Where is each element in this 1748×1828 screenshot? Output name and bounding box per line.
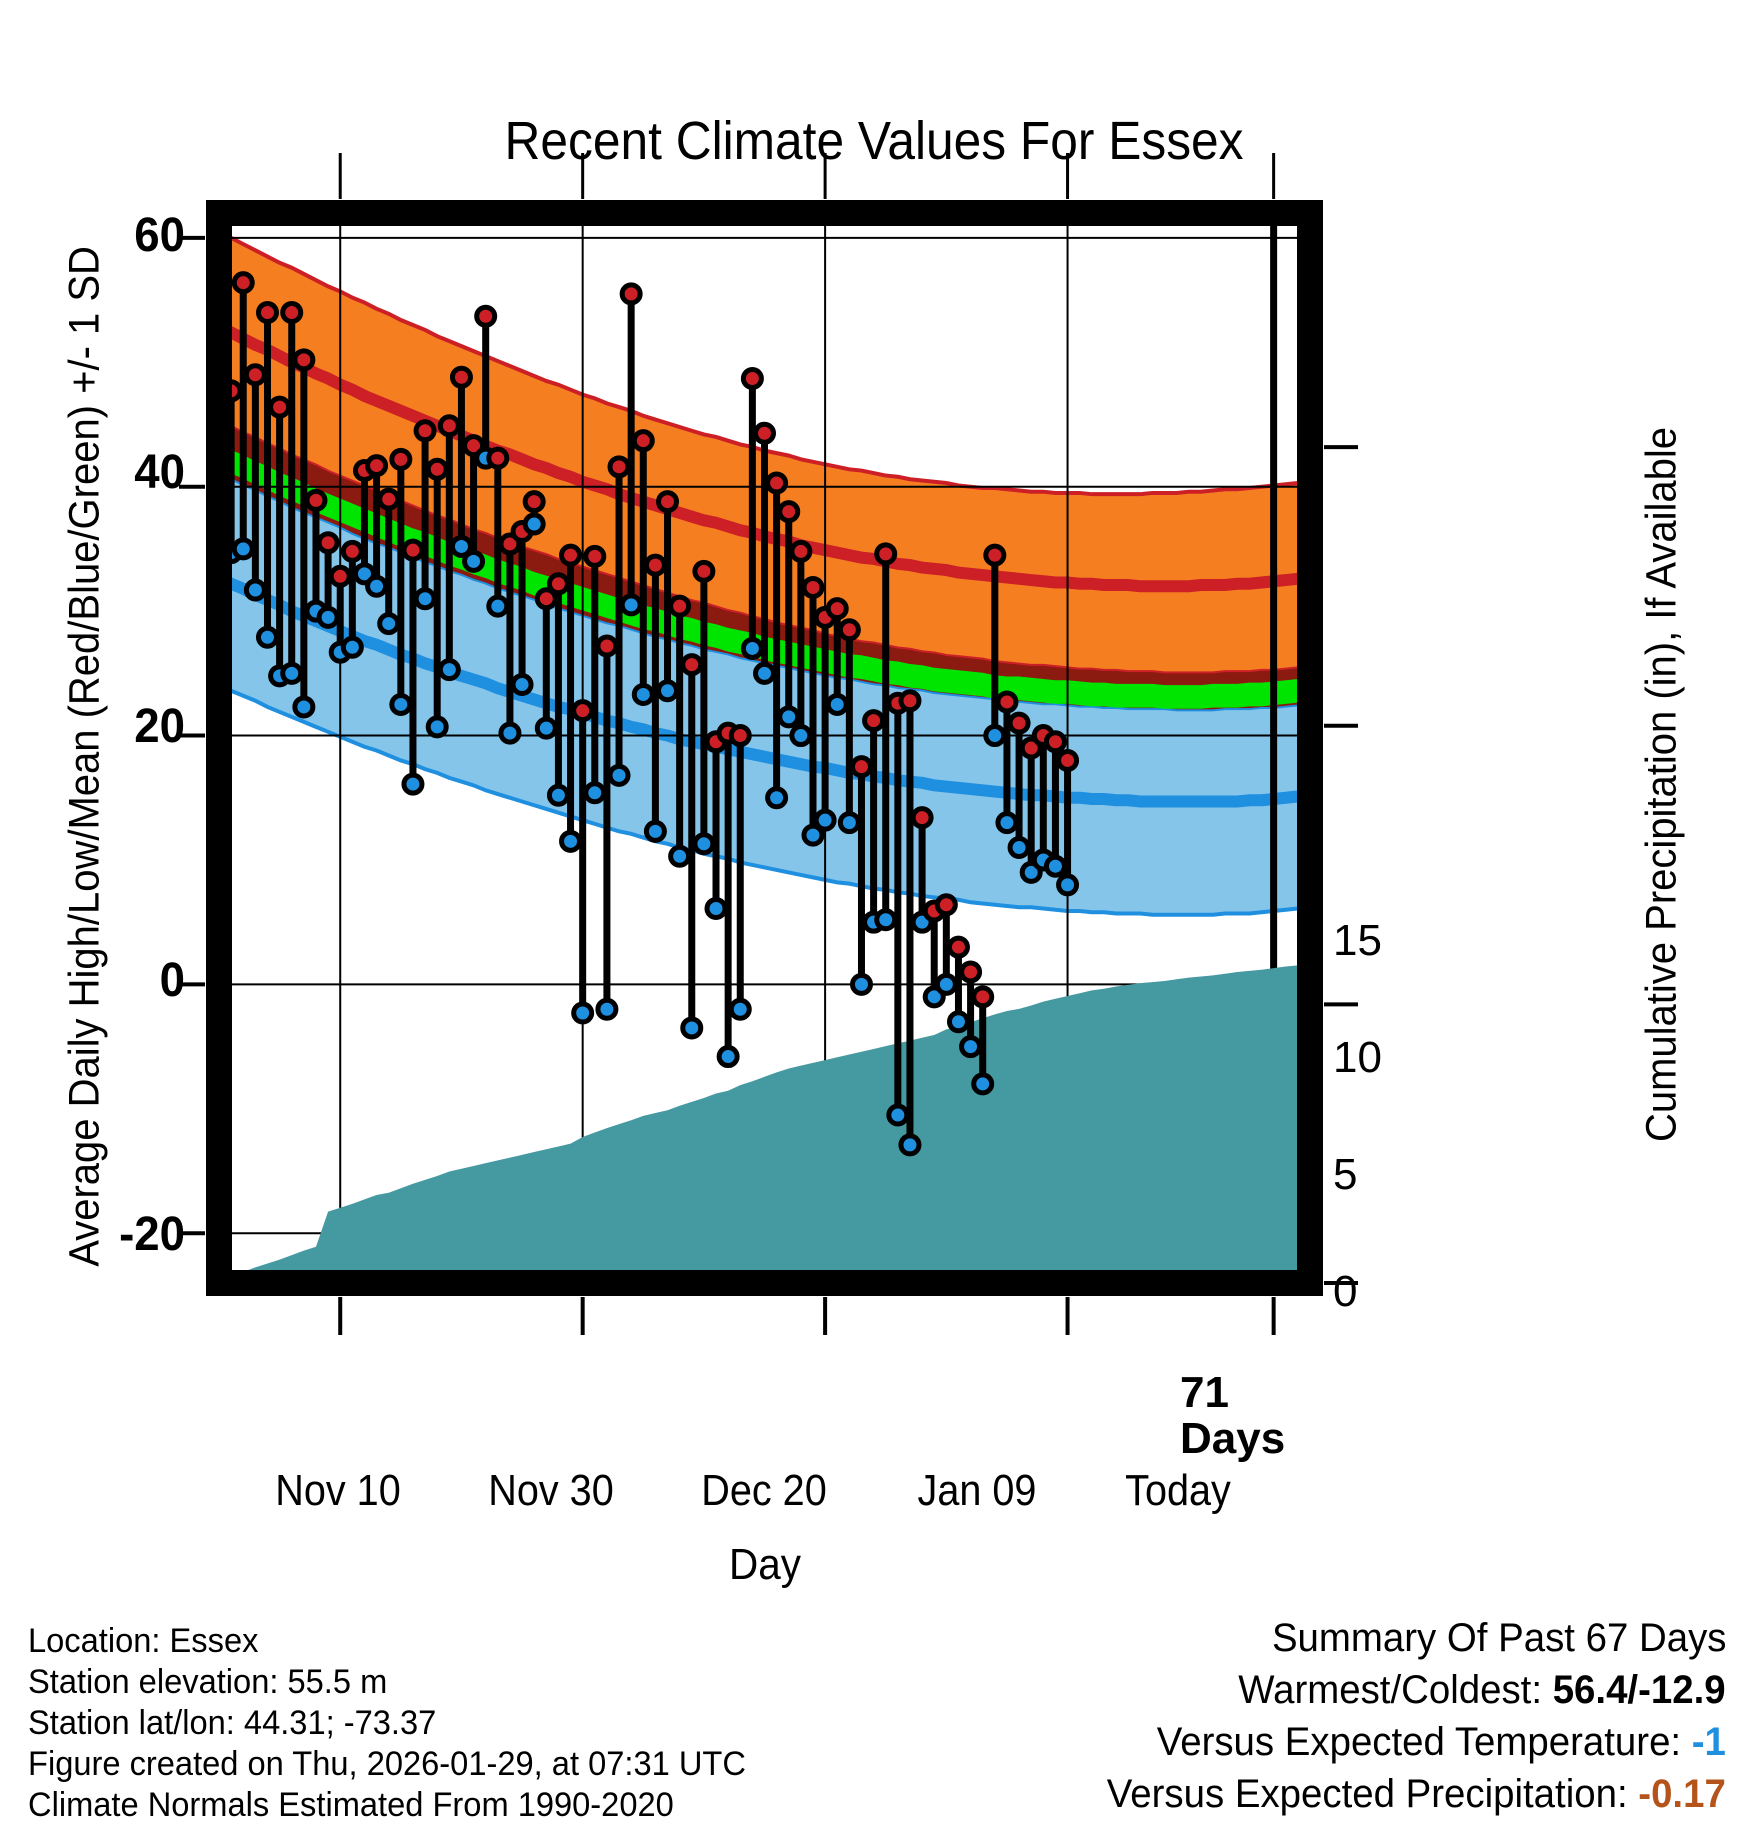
y-tick-right-1: 10 bbox=[1333, 1033, 1453, 1083]
summary-precip-anomaly: Versus Expected Precipitation: -0.17 bbox=[1107, 1772, 1726, 1817]
y-tick-right-2: 5 bbox=[1333, 1150, 1453, 1200]
x-tick-0: Nov 10 bbox=[226, 1466, 451, 1516]
figure-canvas: Recent Climate Values For Essex Average … bbox=[0, 0, 1748, 1828]
precip-anomaly-label: Versus Expected Precipitation: bbox=[1107, 1772, 1638, 1816]
y-tick-right-0: 15 bbox=[1333, 916, 1453, 966]
chart-title: Recent Climate Values For Essex bbox=[70, 110, 1678, 172]
y-axis-right-label: Cumulative Precipitation (in), If Availa… bbox=[1638, 282, 1687, 1286]
footer-location: Location: Essex bbox=[28, 1622, 258, 1661]
x-tick-1: Nov 30 bbox=[439, 1466, 664, 1516]
x-tick-4: Today bbox=[1066, 1466, 1291, 1516]
y-tick-left-0: 60 bbox=[0, 208, 185, 263]
temp-anomaly-label: Versus Expected Temperature: bbox=[1157, 1720, 1692, 1764]
warmest-coldest-value: 56.4/-12.9 bbox=[1553, 1668, 1726, 1712]
footer-created: Figure created on Thu, 2026-01-29, at 07… bbox=[28, 1745, 746, 1784]
footer-latlon: Station lat/lon: 44.31; -73.37 bbox=[28, 1704, 436, 1743]
x-axis-label: Day bbox=[627, 1540, 903, 1590]
y-axis-left-label: Average Daily High/Low/Mean (Red/Blue/Gr… bbox=[61, 262, 110, 1266]
y-tick-right-3: 0 bbox=[1333, 1267, 1453, 1317]
footer-normals: Climate Normals Estimated From 1990-2020 bbox=[28, 1786, 674, 1825]
days-unit: Days bbox=[1180, 1416, 1285, 1462]
y-tick-left-3: 0 bbox=[0, 953, 185, 1008]
days-count: 71 bbox=[1180, 1370, 1285, 1416]
x-tick-2: Dec 20 bbox=[652, 1466, 877, 1516]
summary-temp-anomaly: Versus Expected Temperature: -1 bbox=[1157, 1720, 1726, 1765]
summary-warmest-coldest: Warmest/Coldest: 56.4/-12.9 bbox=[1239, 1668, 1726, 1713]
precip-anomaly-value: -0.17 bbox=[1638, 1772, 1726, 1816]
y-tick-left-2: 20 bbox=[0, 699, 185, 754]
warmest-coldest-label: Warmest/Coldest: bbox=[1239, 1668, 1553, 1712]
y-tick-left-1: 40 bbox=[0, 445, 185, 500]
y-tick-left-4: -20 bbox=[0, 1207, 185, 1262]
temp-anomaly-value: -1 bbox=[1692, 1720, 1726, 1764]
summary-heading: Summary Of Past 67 Days bbox=[1271, 1616, 1726, 1661]
x-tick-3: Jan 09 bbox=[865, 1466, 1090, 1516]
footer-elevation: Station elevation: 55.5 m bbox=[28, 1663, 387, 1702]
days-annotation: 71 Days bbox=[1180, 1370, 1285, 1462]
